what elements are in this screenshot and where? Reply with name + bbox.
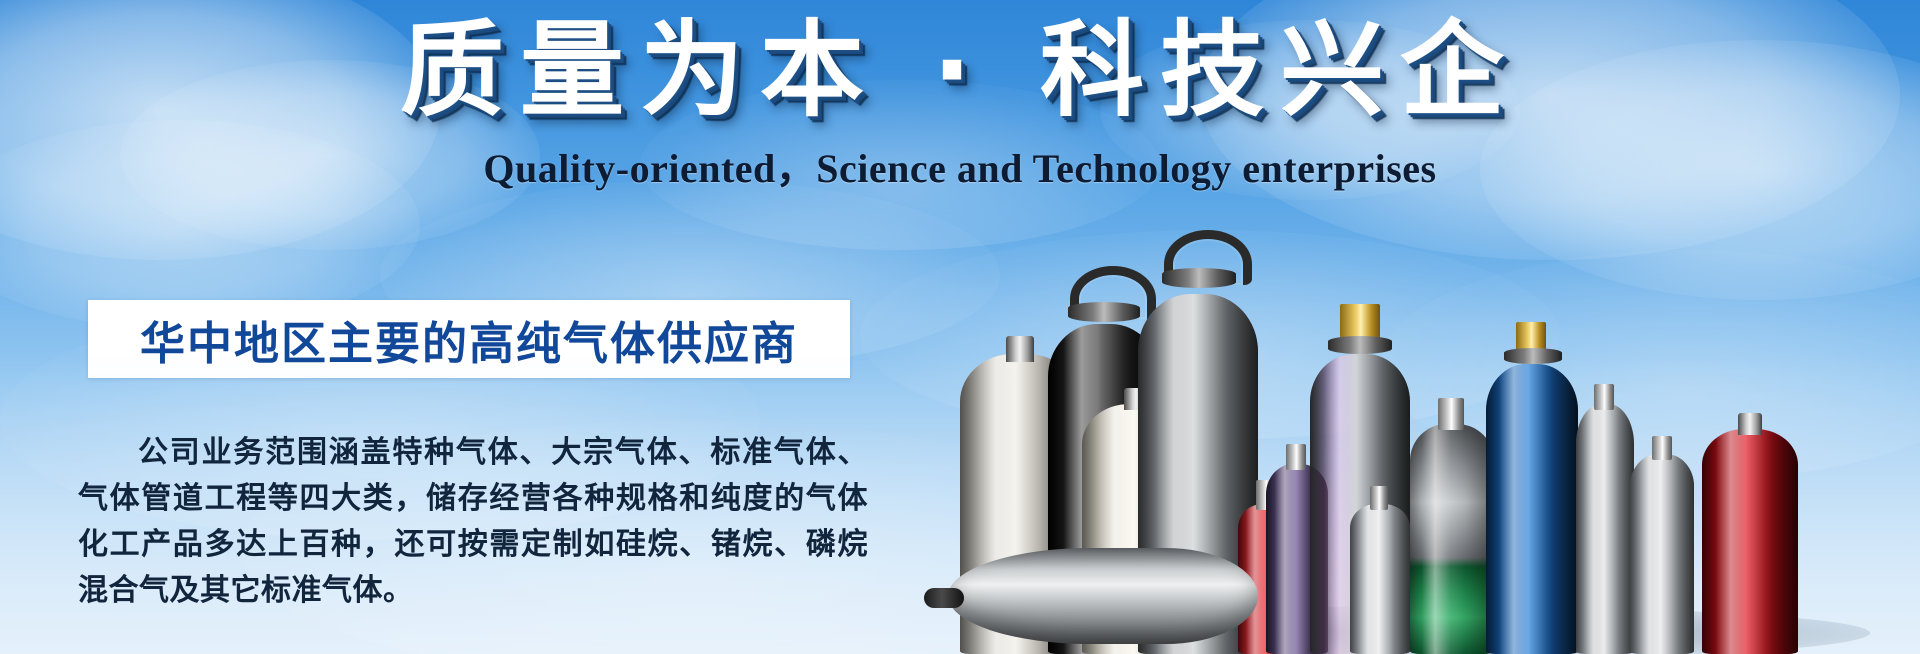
cylinder-body xyxy=(1630,454,1694,654)
cylinder-valve xyxy=(1286,444,1306,470)
tagline-highlight-box: 华中地区主要的高纯气体供应商 xyxy=(88,300,850,378)
cylinder-body xyxy=(1486,364,1578,654)
cylinder-cap-ring xyxy=(1068,302,1140,322)
cylinder-neck xyxy=(1006,336,1034,362)
cylinder-cap-ring xyxy=(1328,336,1392,354)
headline-area: 质量为本 · 科技兴企 xyxy=(0,16,1920,125)
cylinder-body xyxy=(1410,424,1494,654)
red-gloss-cylinder xyxy=(1702,429,1798,654)
cylinder-body xyxy=(1576,404,1634,654)
aluminium-cylinder xyxy=(1630,454,1694,654)
cylinder-cap-ring xyxy=(1162,268,1236,288)
tagline-text: 华中地区主要的高纯气体供应商 xyxy=(140,307,798,372)
left-text-column: 华中地区主要的高纯气体供应商 公司业务范围涵盖特种气体、大宗气体、标准气体、气体… xyxy=(0,300,900,614)
banner-subheadline: Quality-oriented，Science and Technology … xyxy=(483,146,1436,191)
cylinder-valve xyxy=(1652,436,1672,460)
cylinder-neck xyxy=(1738,413,1762,435)
cylinder-body xyxy=(1350,504,1410,654)
banner-headline: 质量为本 · 科技兴企 xyxy=(400,16,1520,125)
aluminium-cylinder xyxy=(1576,404,1634,654)
tank-valve xyxy=(924,588,964,608)
banner-subheadline-area: Quality-oriented，Science and Technology … xyxy=(0,136,1920,194)
green-base-cylinder xyxy=(1410,424,1494,654)
grey-horizontal-tank xyxy=(948,548,1258,644)
blue-tall-cylinder xyxy=(1486,364,1578,654)
aluminium-cylinder xyxy=(1350,504,1410,654)
cylinder-valve xyxy=(1370,486,1388,510)
promo-banner: 质量为本 · 科技兴企 Quality-oriented，Science and… xyxy=(0,0,1920,654)
cylinder-valve xyxy=(1594,384,1614,410)
cylinder-body xyxy=(1702,429,1798,654)
cylinder-valve xyxy=(1438,398,1464,430)
gas-cylinder-product-group xyxy=(930,150,1920,654)
cylinder-brass-valve xyxy=(1340,304,1380,338)
body-paragraph: 公司业务范围涵盖特种气体、大宗气体、标准气体、气体管道工程等四大类，储存经营各种… xyxy=(78,430,868,614)
cylinder-cap-ring xyxy=(1504,348,1562,364)
body-copy-block: 公司业务范围涵盖特种气体、大宗气体、标准气体、气体管道工程等四大类，储存经营各种… xyxy=(78,430,868,614)
